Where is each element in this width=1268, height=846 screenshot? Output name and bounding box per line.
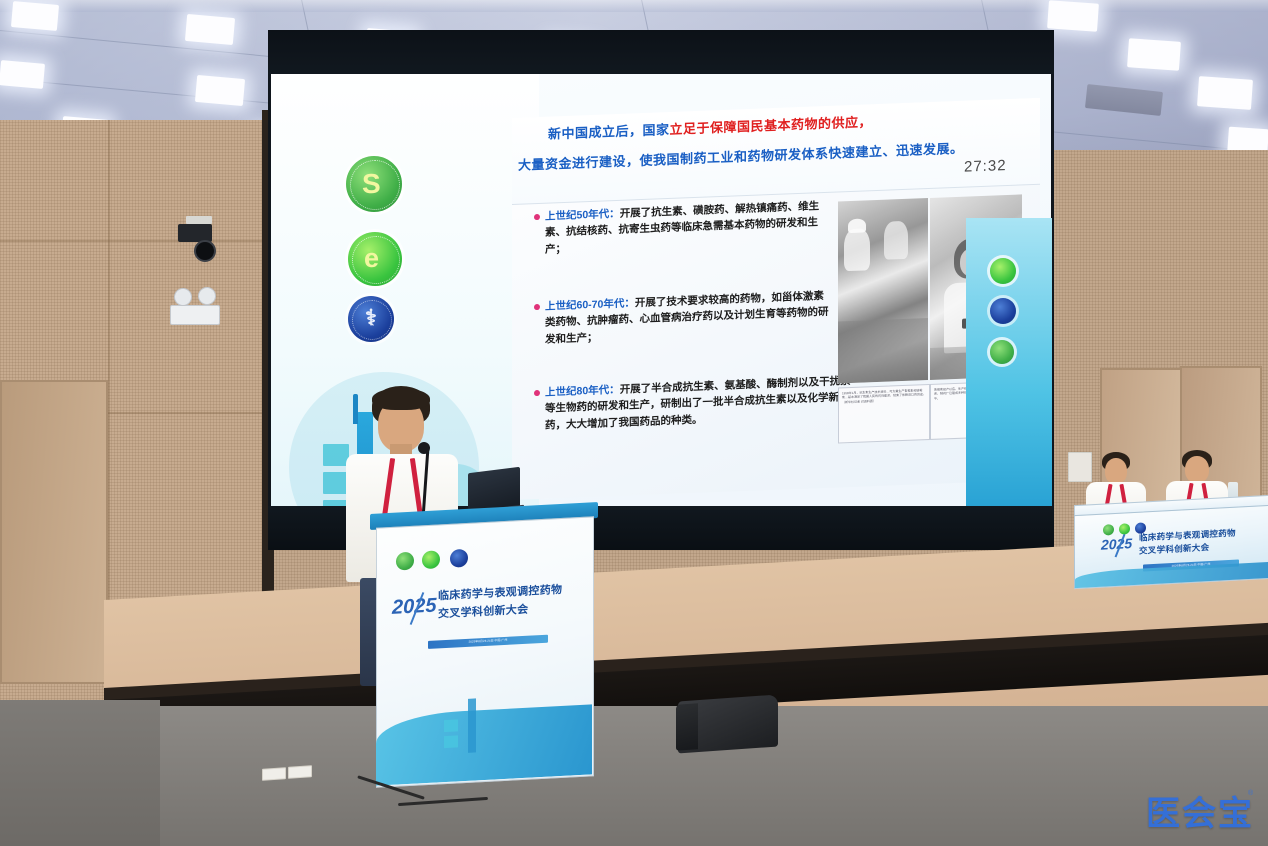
slide-bullet-3-text: 上世纪80年代：开展了半合成抗生素、氨基酸、酶制剂以及干扰素等生物药的研发和生产… [545,373,852,434]
slide-title-part-1: 新中国成立后， [548,123,643,142]
bullet-dot-icon [534,304,540,310]
panel-table-front: 2025 临床药学与表观调控药物 交叉学科创新大会 2025年8月23-24日 … [1074,505,1268,589]
podium-wave-graphic [376,704,592,785]
speaker-hair-top [372,388,430,410]
podium-building-graphic [444,719,458,732]
ceiling-panel-light [0,60,45,89]
presentation-timer: 27:32 [964,157,1007,176]
emergency-light [170,305,220,325]
photo-worker-cap [848,218,866,233]
logo-glyph: e [364,243,379,274]
bullet-dot-icon [534,390,540,396]
security-camera-bracket [186,216,212,224]
podium-blue-emblem-logo [450,549,468,568]
ceiling-panel-light [185,14,235,45]
paper-on-stage [262,767,286,781]
ceiling-panel-light [195,75,245,106]
slide-bullet-3-lead: 上世纪80年代： [545,384,620,399]
slide-bullet-2-lead: 上世纪60-70年代： [545,297,635,312]
watermark-trademark: ® [1248,790,1253,797]
table-green-leaf-logo [1119,523,1130,535]
paper-on-stage [288,765,312,779]
slide-bullet-3-body: 开展了半合成抗生素、氨基酸、酶制剂以及干扰素等生物药的研发和生产，研制出了一批半… [545,375,851,431]
slide-title-part-2: 国家 [643,122,670,138]
historical-photo-factory [838,198,928,383]
logo-glyph: ⚕ [365,305,377,331]
podium-subtitle: 2025年8月23-24日 中国·广州 [428,635,548,648]
slide-bullet-2: 上世纪60-70年代：开展了技术要求较高的药物，如甾体激素类药物、抗肿瘤药、心血… [534,288,830,348]
left-door[interactable] [0,380,108,684]
ceiling-panel-light [11,1,59,31]
security-camera-lens [194,240,216,262]
bullet-dot-icon [534,214,540,220]
podium-green-leaf-logo [422,550,440,569]
microphone-head [418,442,430,454]
hall-floor [0,706,1268,846]
photo-worker-figure [844,228,870,271]
photo-caption-box-1: 1958年1月，抗生素生产技术资料…可大量生产青霉素和链霉素…基本满足了我国人民… [838,384,930,444]
conference-hall-photo: 新中国成立后，国家立足于保障国民基本药物的供应， 大量资金进行建设，使我国制药工… [0,0,1268,846]
podium: 2025 临床药学与表观调控药物 交叉学科创新大会 2025年8月23-24日 … [370,508,598,784]
podium-building-graphic [444,735,458,748]
slide-bullet-1-text: 上世纪50年代：开展了抗生素、磺胺药、解热镇痛药、维生素、抗结核药、抗寄生虫药等… [545,198,830,258]
slide-content: 新中国成立后，国家立足于保障国民基本药物的供应， 大量资金进行建设，使我国制药工… [512,98,1040,500]
green-globe-logo: S [346,156,402,212]
logo-glyph: S [362,168,381,200]
ceiling-panel-light [1197,76,1253,110]
blue-emblem-logo-on-screen [990,298,1016,324]
photo-equipment [838,318,928,383]
slide-bullet-1: 上世纪50年代：开展了抗生素、磺胺药、解热镇痛药、维生素、抗结核药、抗寄生虫药等… [534,198,830,258]
panel-table: 2025 临床药学与表观调控药物 交叉学科创新大会 2025年8月23-24日 … [1074,500,1268,592]
panelist-left-head [1105,458,1127,484]
table-green-globe-logo [1103,524,1114,536]
slide-bullet-3: 上世纪80年代：开展了半合成抗生素、氨基酸、酶制剂以及干扰素等生物药的研发和生产… [534,373,852,434]
photo-worker-figure [884,221,908,260]
green-leaf-logo: e [348,232,402,286]
presentation-slide: 新中国成立后，国家立足于保障国民基本药物的供应， 大量资金进行建设，使我国制药工… [512,98,1040,500]
emergency-light-head [198,287,216,305]
podium-graphics: 2025 临床药学与表观调控药物 交叉学科创新大会 2025年8月23-24日 … [376,516,592,785]
podium-green-globe-logo [396,552,414,571]
ceiling-panel-light [1047,0,1099,31]
podium-subtitle-band: 2025年8月23-24日 中国·广州 [428,635,548,649]
watermark-logo: 医会宝 [1146,786,1254,835]
panelist-right-head [1185,456,1209,483]
led-screen-top-bezel [268,30,1054,74]
stage-monitor-side [676,703,698,751]
slide-bullet-2-text: 上世纪60-70年代：开展了技术要求较高的药物，如甾体激素类药物、抗肿瘤药、心血… [545,288,830,348]
ceiling-panel-light [1127,38,1181,71]
podium-tower-graphic [468,698,476,752]
blue-emblem-logo: ⚕ [348,296,394,342]
photo-caption-1: 1958年1月，抗生素生产技术资料…可大量生产青霉素和链霉素…基本满足了我国人民… [842,388,926,439]
hall-floor-left [0,700,160,846]
green-leaf-logo-on-screen [990,258,1016,284]
wall-seam [0,240,268,242]
podium-title-line-2: 交叉学科创新大会 [438,601,588,623]
slide-bullet-1-lead: 上世纪50年代： [545,208,620,223]
green-globe-logo-on-screen [990,340,1014,364]
emergency-light-head [174,288,192,306]
table-wave-graphic [1075,562,1268,589]
